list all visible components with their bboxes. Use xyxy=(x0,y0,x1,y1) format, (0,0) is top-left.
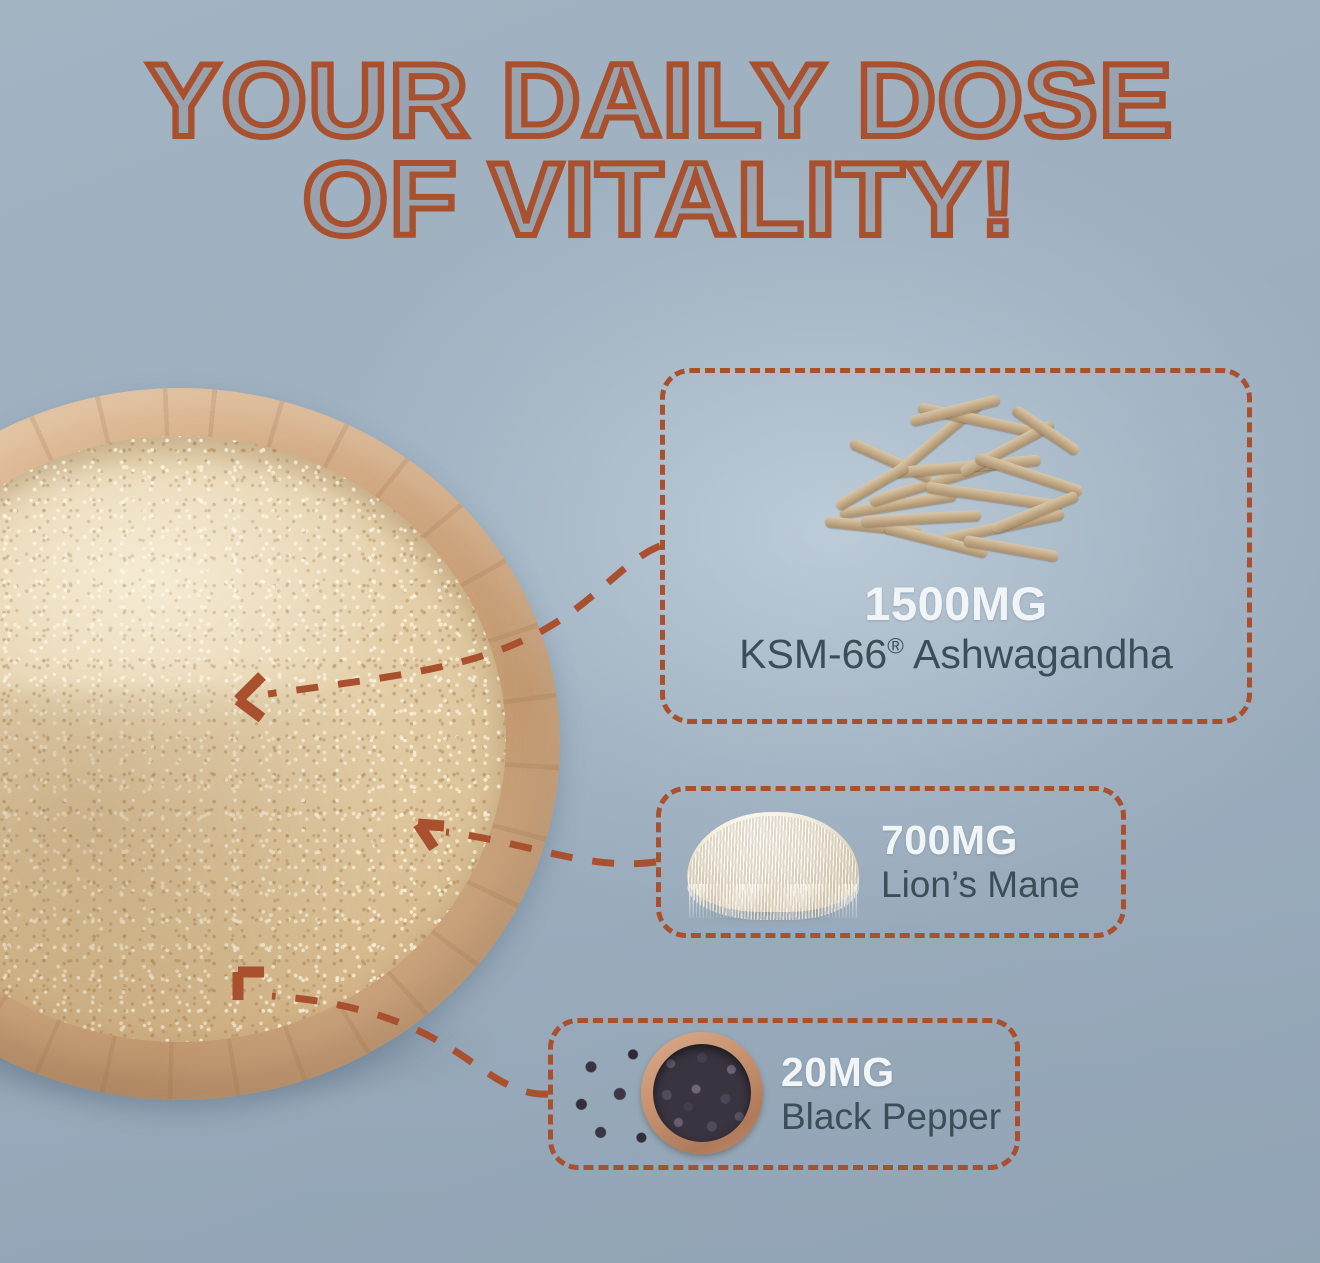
lions-mane-text-block: 700MG Lion’s Mane xyxy=(881,819,1080,905)
black-pepper-name: Black Pepper xyxy=(781,1096,1001,1137)
lions-mane-mushroom-icon xyxy=(679,802,867,922)
black-pepper-text-block: 20MG Black Pepper xyxy=(781,1051,1001,1137)
ashwagandha-brand: KSM-66 xyxy=(739,631,887,677)
registered-trademark-icon: ® xyxy=(887,634,904,659)
pepper-bowl-contents xyxy=(653,1044,751,1142)
black-peppercorns-icon xyxy=(567,1028,767,1160)
ashwagandha-name-suffix: Ashwagandha xyxy=(904,631,1173,677)
ingredient-card-black-pepper[interactable]: 20MG Black Pepper xyxy=(548,1018,1020,1170)
ashwagandha-text-block: 1500MG KSM-66® Ashwagandha xyxy=(739,579,1173,678)
lions-mane-fringe xyxy=(689,884,857,918)
pepper-wooden-bowl xyxy=(641,1032,763,1154)
lions-mane-dose: 700MG xyxy=(881,819,1018,862)
lions-mane-name: Lion’s Mane xyxy=(881,864,1080,905)
ashwagandha-roots-icon xyxy=(821,403,1091,575)
infographic-canvas: YOUR DAILY DOSE OF VITALITY! xyxy=(0,0,1320,1263)
black-pepper-dose: 20MG xyxy=(781,1051,895,1094)
ashwagandha-dose: 1500MG xyxy=(864,579,1047,628)
ingredient-card-ashwagandha[interactable]: 1500MG KSM-66® Ashwagandha xyxy=(660,368,1252,724)
ashwagandha-name: KSM-66® Ashwagandha xyxy=(739,632,1173,678)
ingredient-card-lions-mane[interactable]: 700MG Lion’s Mane xyxy=(656,786,1126,938)
